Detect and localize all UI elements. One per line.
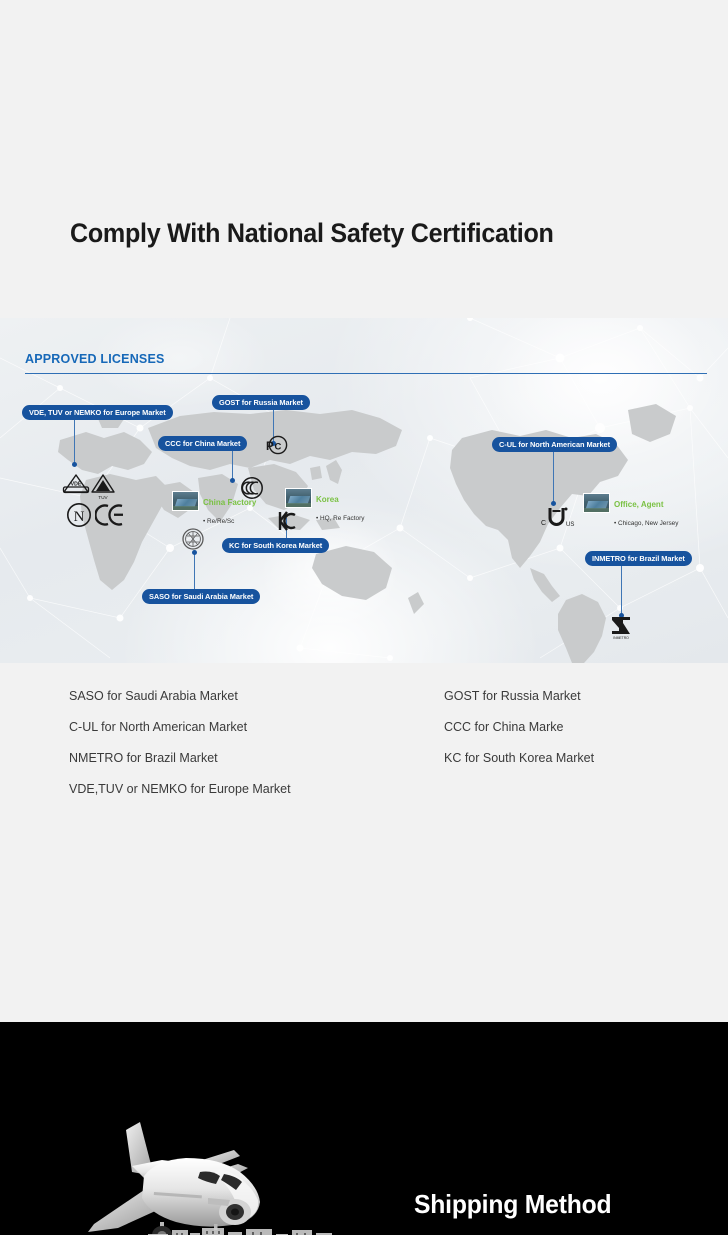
license-list-right-column: GOST for Russia Market CCC for China Mar… xyxy=(444,690,594,783)
map-dot-europe xyxy=(72,462,77,467)
factory-photo-icon xyxy=(285,488,312,508)
region-heading: Office, Agent xyxy=(614,500,663,509)
saso-mark-icon xyxy=(182,527,204,551)
map-dot-china xyxy=(230,478,235,483)
svg-text:VDE: VDE xyxy=(71,482,82,488)
license-item: SASO for Saudi Arabia Market xyxy=(69,690,291,703)
shipping-method-band: Shipping Method xyxy=(0,1022,728,1235)
office-photo-icon xyxy=(583,493,610,513)
tuv-mark-icon: TUV xyxy=(90,473,116,501)
region-subtext: • Re/Re/Sc xyxy=(203,518,234,525)
leader-line-china xyxy=(232,450,233,480)
region-heading: China Factory xyxy=(203,498,256,507)
approved-licenses-rule xyxy=(25,373,707,374)
pill-saso-saudi-arabia[interactable]: SASO for Saudi Arabia Market xyxy=(142,589,260,604)
nemko-mark-icon: N xyxy=(66,502,92,528)
pill-inmetro-brazil[interactable]: INMETRO for Brazil Market xyxy=(585,551,692,566)
region-office-agent: Office, Agent • Chicago, New Jersey xyxy=(583,493,678,530)
factory-photo-icon xyxy=(172,491,199,511)
license-item: GOST for Russia Market xyxy=(444,690,594,703)
license-item: NMETRO for Brazil Market xyxy=(69,752,291,765)
pill-kc-south-korea[interactable]: KC for South Korea Market xyxy=(222,538,329,553)
cul-caption-left: C xyxy=(541,520,546,527)
leader-line-saudi-arabia xyxy=(194,553,195,591)
pill-gost-russia[interactable]: GOST for Russia Market xyxy=(212,395,310,410)
pill-cul-north-america[interactable]: C-UL for North American Market xyxy=(492,437,617,452)
vde-mark-icon: VDE xyxy=(62,473,90,495)
region-heading: Korea xyxy=(316,495,339,504)
page-title: Comply With National Safety Certificatio… xyxy=(70,218,554,249)
svg-text:N: N xyxy=(74,509,85,525)
kc-mark-icon xyxy=(277,510,297,532)
region-subtext: • Chicago, New Jersey xyxy=(614,520,678,527)
tuv-caption: TUV xyxy=(98,495,108,500)
ce-mark-icon xyxy=(95,503,125,527)
license-item: VDE,TUV or NEMKO for Europe Market xyxy=(69,783,291,796)
cul-caption-right: US xyxy=(566,522,574,528)
svg-text:C: C xyxy=(275,442,282,453)
leader-line-brazil xyxy=(621,565,622,615)
gost-mark-icon: P C xyxy=(264,434,288,456)
certification-page: Comply With National Safety Certificatio… xyxy=(0,0,728,1235)
leader-line-north-america xyxy=(553,451,554,503)
ccc-mark-icon xyxy=(240,477,264,499)
license-item: CCC for China Marke xyxy=(444,721,594,734)
inmetro-mark-icon: INMETRO xyxy=(608,614,634,640)
svg-text:P: P xyxy=(266,441,274,453)
region-subtext: • HQ, Re Factory xyxy=(316,515,364,522)
shipping-method-title: Shipping Method xyxy=(414,1189,611,1220)
inmetro-caption: INMETRO xyxy=(613,636,629,640)
cul-mark-icon: C US xyxy=(540,505,576,529)
license-item: C-UL for North American Market xyxy=(69,721,291,734)
leader-line-europe xyxy=(74,419,75,464)
pill-ccc-china[interactable]: CCC for China Market xyxy=(158,436,247,451)
airplane-illustration xyxy=(88,1120,358,1235)
license-list-left-column: SASO for Saudi Arabia Market C-UL for No… xyxy=(69,690,291,814)
title-band: Comply With National Safety Certificatio… xyxy=(0,0,728,318)
pill-vde-tuv-nemko-europe[interactable]: VDE, TUV or NEMKO for Europe Market xyxy=(22,405,173,420)
approved-licenses-heading: APPROVED LICENSES xyxy=(25,352,165,366)
license-item: KC for South Korea Market xyxy=(444,752,594,765)
